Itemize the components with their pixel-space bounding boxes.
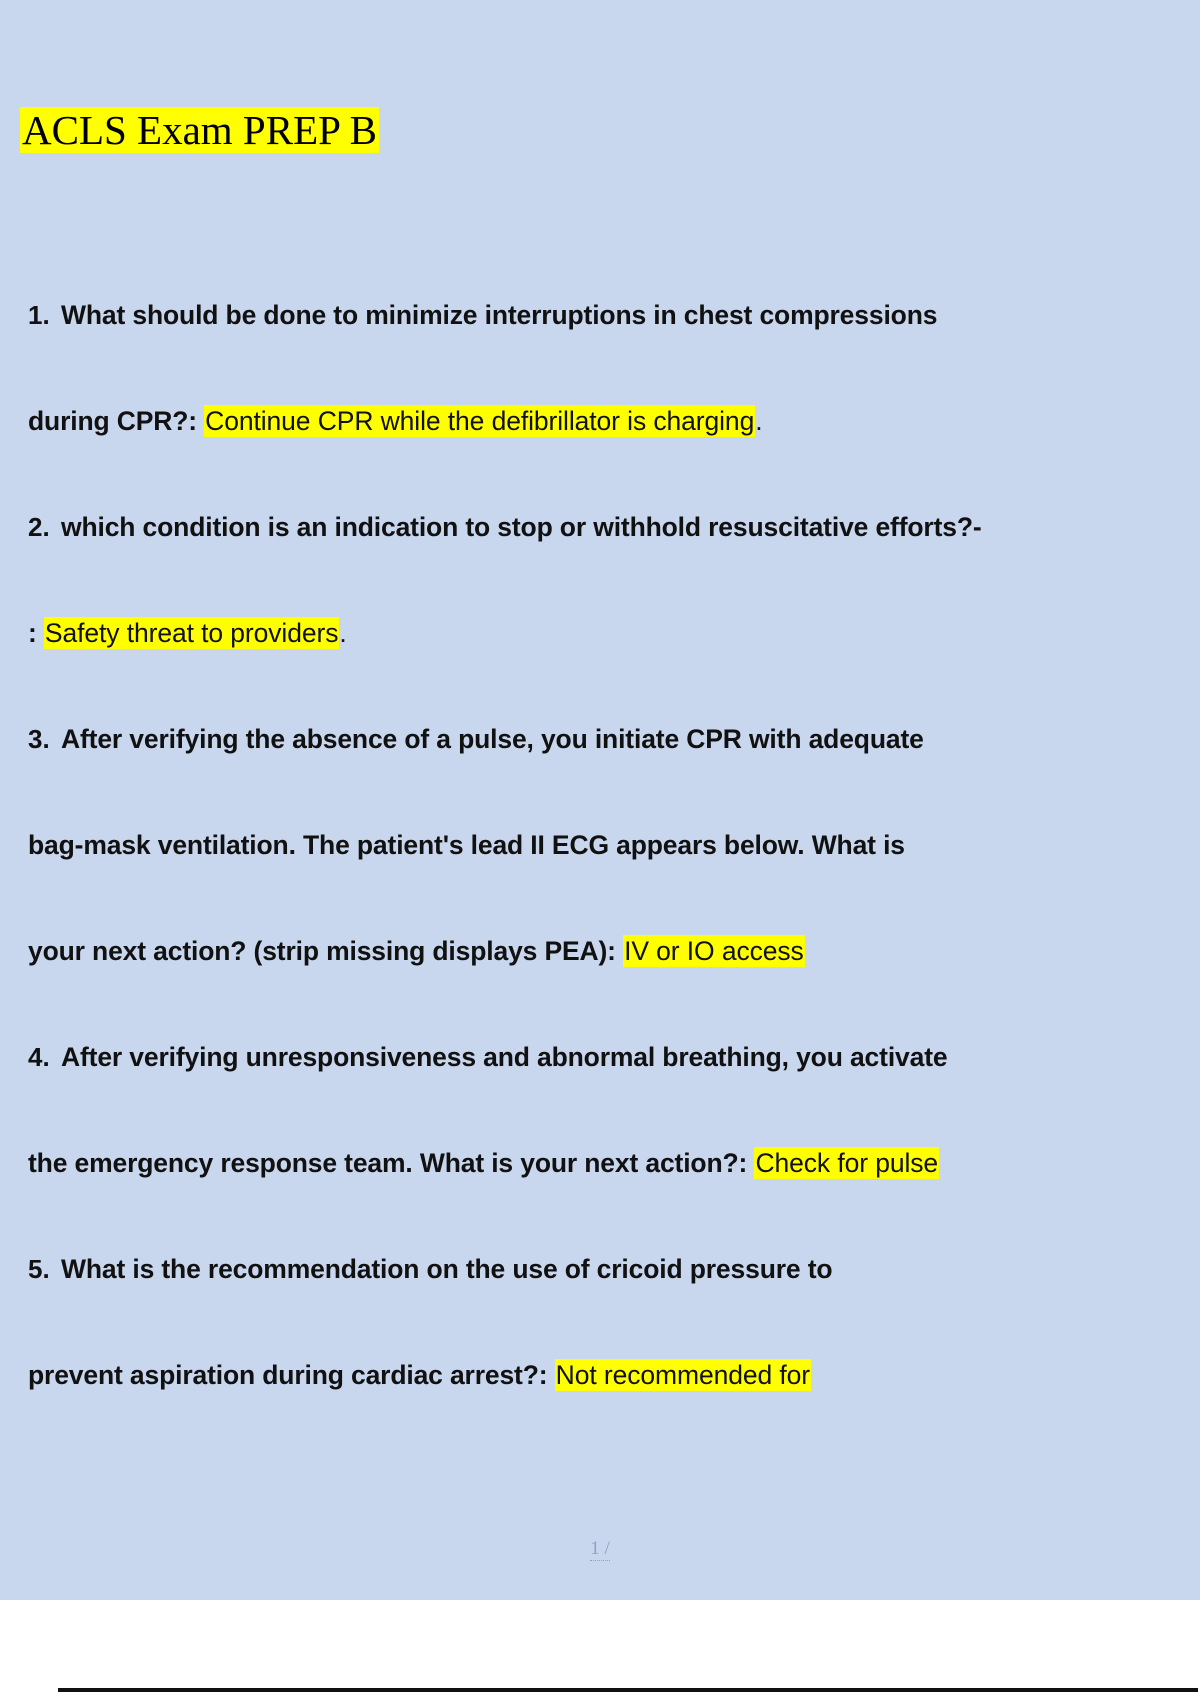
question-text-line: : xyxy=(28,618,37,648)
question-text-line: What should be done to minimize interrup… xyxy=(61,262,937,368)
question-line: 3. After verifying the absence of a puls… xyxy=(0,686,1200,792)
question-text-line: which condition is an indication to stop… xyxy=(61,474,982,580)
question-line: 1. What should be done to minimize inter… xyxy=(0,262,1200,368)
question-text-line: during CPR?: xyxy=(28,406,197,436)
question-line: 2. which condition is an indication to s… xyxy=(0,474,1200,580)
question-answer-line: : Safety threat to providers. xyxy=(28,580,347,686)
answer-highlight: IV or IO access xyxy=(623,935,805,967)
page-title-highlight: ACLS Exam PREP B xyxy=(20,107,379,153)
question-line: the emergency response team. What is you… xyxy=(0,1110,1200,1216)
question-number: 5. xyxy=(28,1216,50,1322)
answer-highlight: Continue CPR while the defibrillator is … xyxy=(204,405,755,437)
bottom-divider xyxy=(58,1688,1198,1692)
question-text-line: After verifying the absence of a pulse, … xyxy=(61,686,924,792)
question-text-line: prevent aspiration during cardiac arrest… xyxy=(28,1360,547,1390)
question-line: 4. After verifying unresponsiveness and … xyxy=(0,1004,1200,1110)
question-line: bag-mask ventilation. The patient's lead… xyxy=(0,792,1200,898)
page-title: ACLS Exam PREP B xyxy=(20,104,379,157)
question-number: 1. xyxy=(28,262,50,368)
question-text-line: bag-mask ventilation. The patient's lead… xyxy=(28,792,905,898)
answer-highlight: Safety threat to providers xyxy=(44,617,339,649)
answer-highlight: Check for pulse xyxy=(754,1147,939,1179)
question-line: your next action? (strip missing display… xyxy=(0,898,1200,1004)
answer-highlight: Not recommended for xyxy=(555,1359,811,1391)
question-item-2: 2. which condition is an indication to s… xyxy=(0,474,1200,686)
question-list: 1. What should be done to minimize inter… xyxy=(0,262,1200,1428)
question-text-line: After verifying unresponsiveness and abn… xyxy=(61,1004,947,1110)
question-item-5: 5. What is the recommendation on the use… xyxy=(0,1216,1200,1428)
question-answer-line: during CPR?: Continue CPR while the defi… xyxy=(28,368,762,474)
document-page: ACLS Exam PREP B 1. What should be done … xyxy=(0,0,1200,1600)
question-text-line: your next action? (strip missing display… xyxy=(28,936,616,966)
page-gutter xyxy=(0,1600,1200,1700)
question-item-4: 4. After verifying unresponsiveness and … xyxy=(0,1004,1200,1216)
question-line: prevent aspiration during cardiac arrest… xyxy=(0,1322,1200,1428)
question-item-1: 1. What should be done to minimize inter… xyxy=(0,262,1200,474)
question-number: 3. xyxy=(28,686,50,792)
answer-tail: . xyxy=(339,618,346,648)
page-number-indicator: 1 / xyxy=(590,1538,610,1561)
question-line: during CPR?: Continue CPR while the defi… xyxy=(0,368,1200,474)
question-text-line: the emergency response team. What is you… xyxy=(28,1148,747,1178)
question-number: 2. xyxy=(28,474,50,580)
question-line: : Safety threat to providers. xyxy=(0,580,1200,686)
question-answer-line: the emergency response team. What is you… xyxy=(28,1110,939,1216)
question-answer-line: prevent aspiration during cardiac arrest… xyxy=(28,1322,811,1428)
question-line: 5. What is the recommendation on the use… xyxy=(0,1216,1200,1322)
question-item-3: 3. After verifying the absence of a puls… xyxy=(0,686,1200,1004)
question-answer-line: your next action? (strip missing display… xyxy=(28,898,805,1004)
answer-tail: . xyxy=(755,406,762,436)
question-text-line: What is the recommendation on the use of… xyxy=(61,1216,832,1322)
question-number: 4. xyxy=(28,1004,50,1110)
page-footer: 1 / xyxy=(0,1538,1200,1560)
